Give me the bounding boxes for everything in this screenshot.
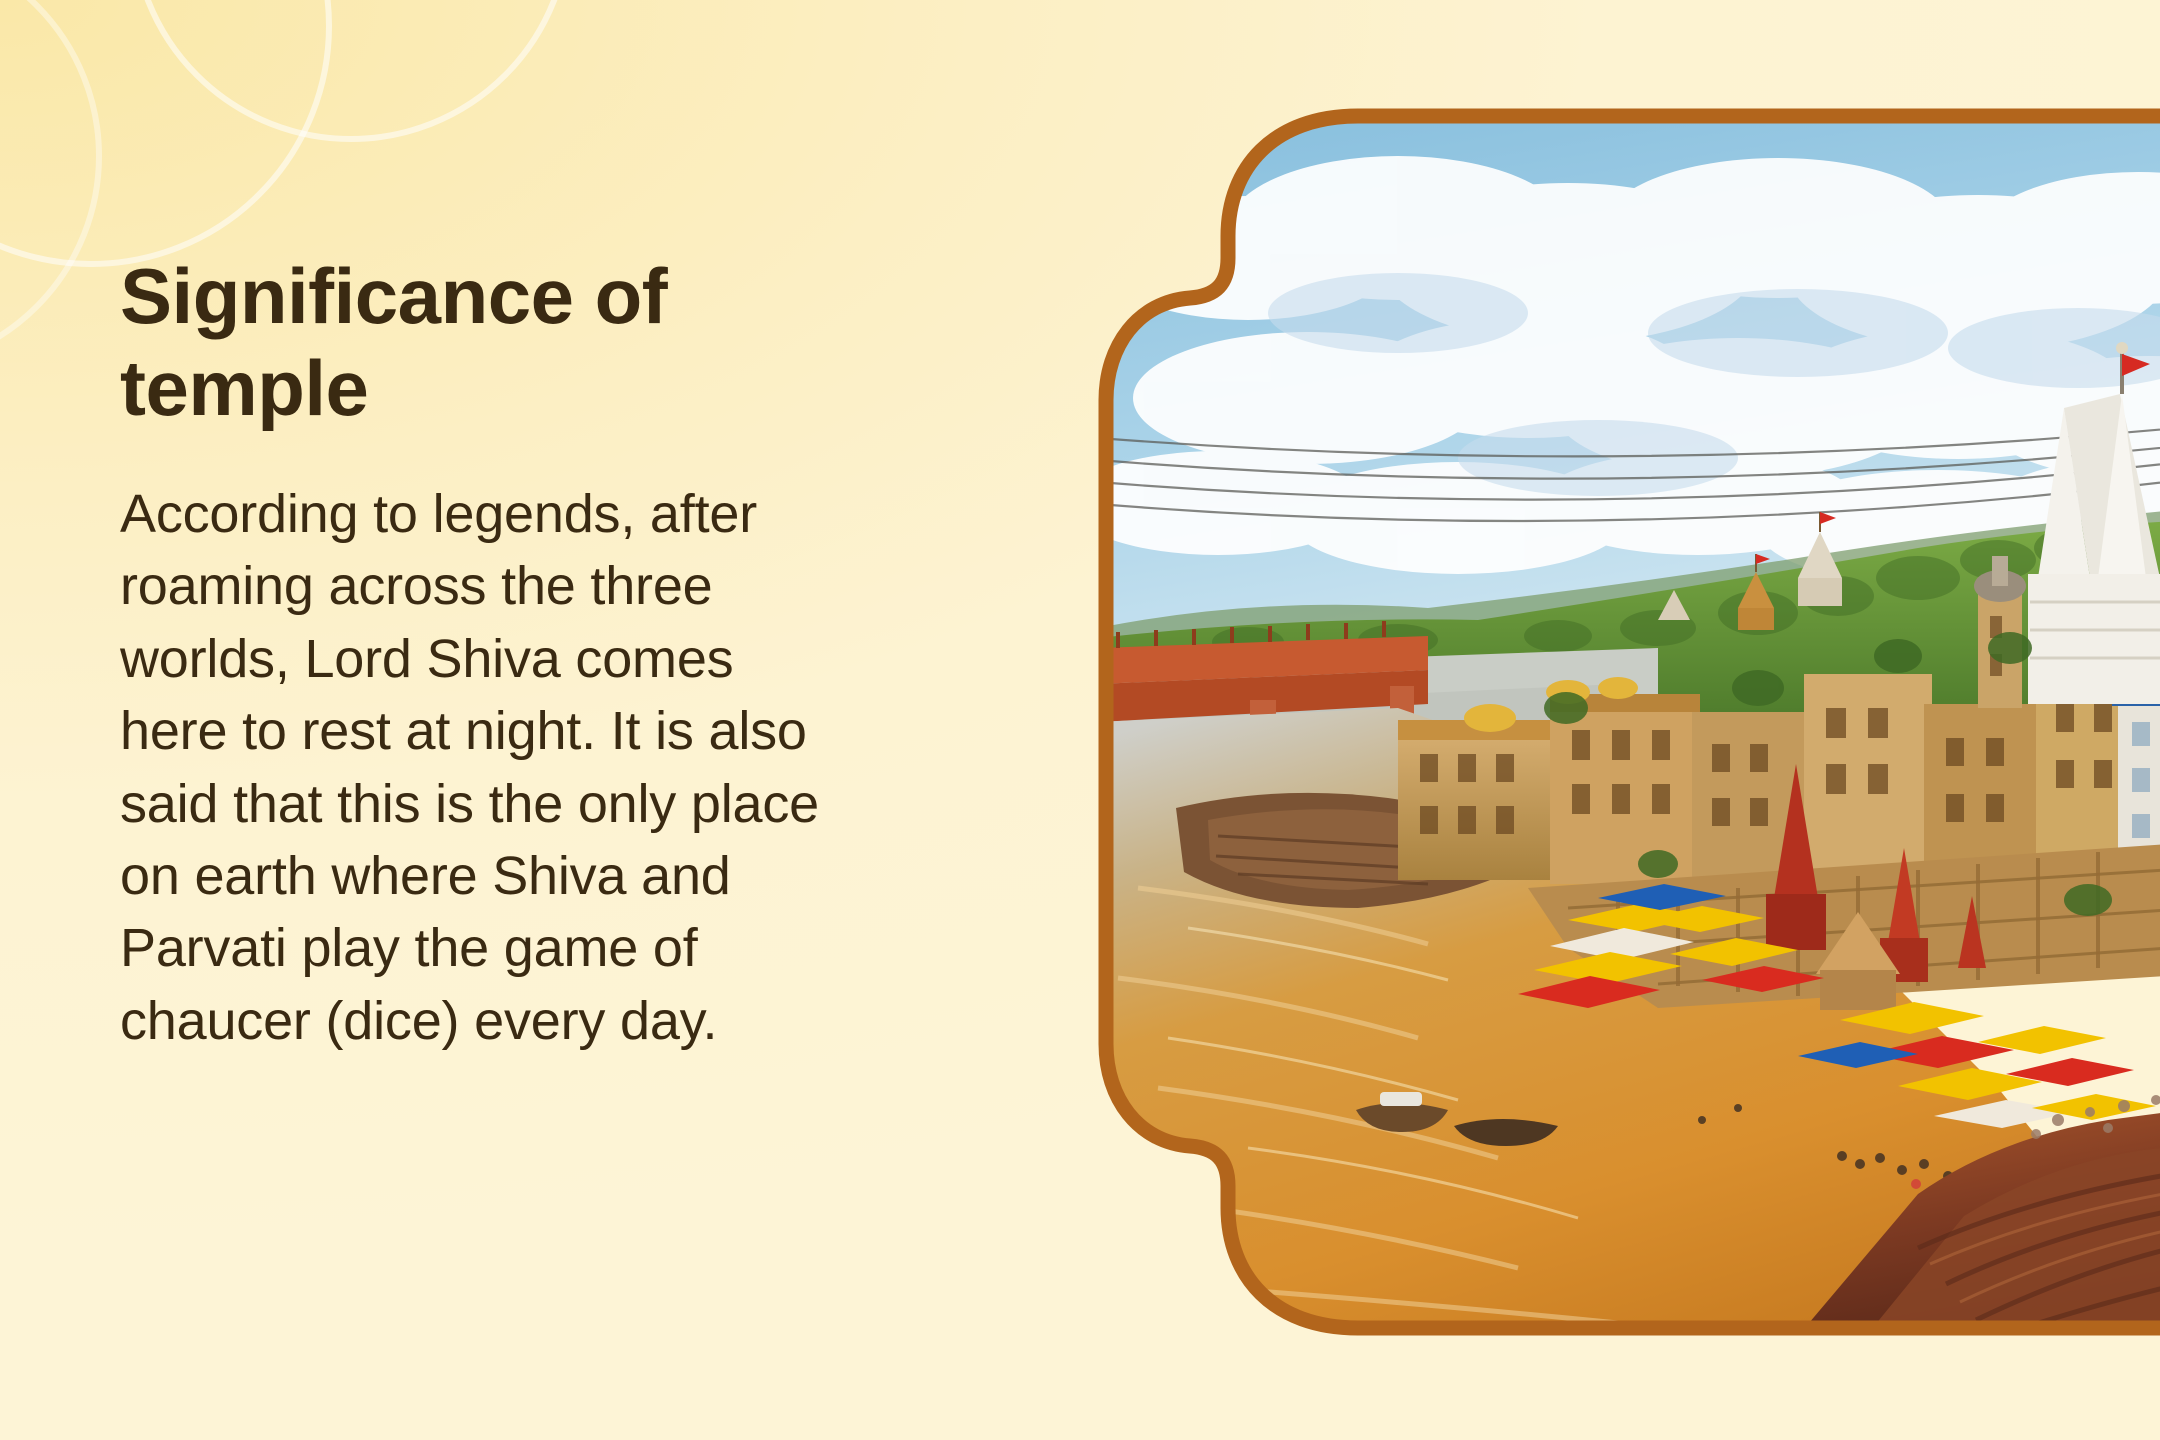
- page-title: Significance of temple: [120, 250, 820, 434]
- text-column: Significance of temple According to lege…: [120, 250, 820, 1057]
- decorative-circle-icon: [0, 0, 102, 372]
- image-frame: [1098, 108, 2160, 1336]
- tower: [1974, 556, 2026, 708]
- body-paragraph: According to legends, after roaming acro…: [120, 478, 820, 1057]
- slide-root: Significance of temple According to lege…: [0, 0, 2160, 1440]
- decorative-circle-icon: [130, 0, 572, 142]
- photo-illustration: [1098, 108, 2160, 1336]
- decorative-circle-icon: [0, 0, 332, 267]
